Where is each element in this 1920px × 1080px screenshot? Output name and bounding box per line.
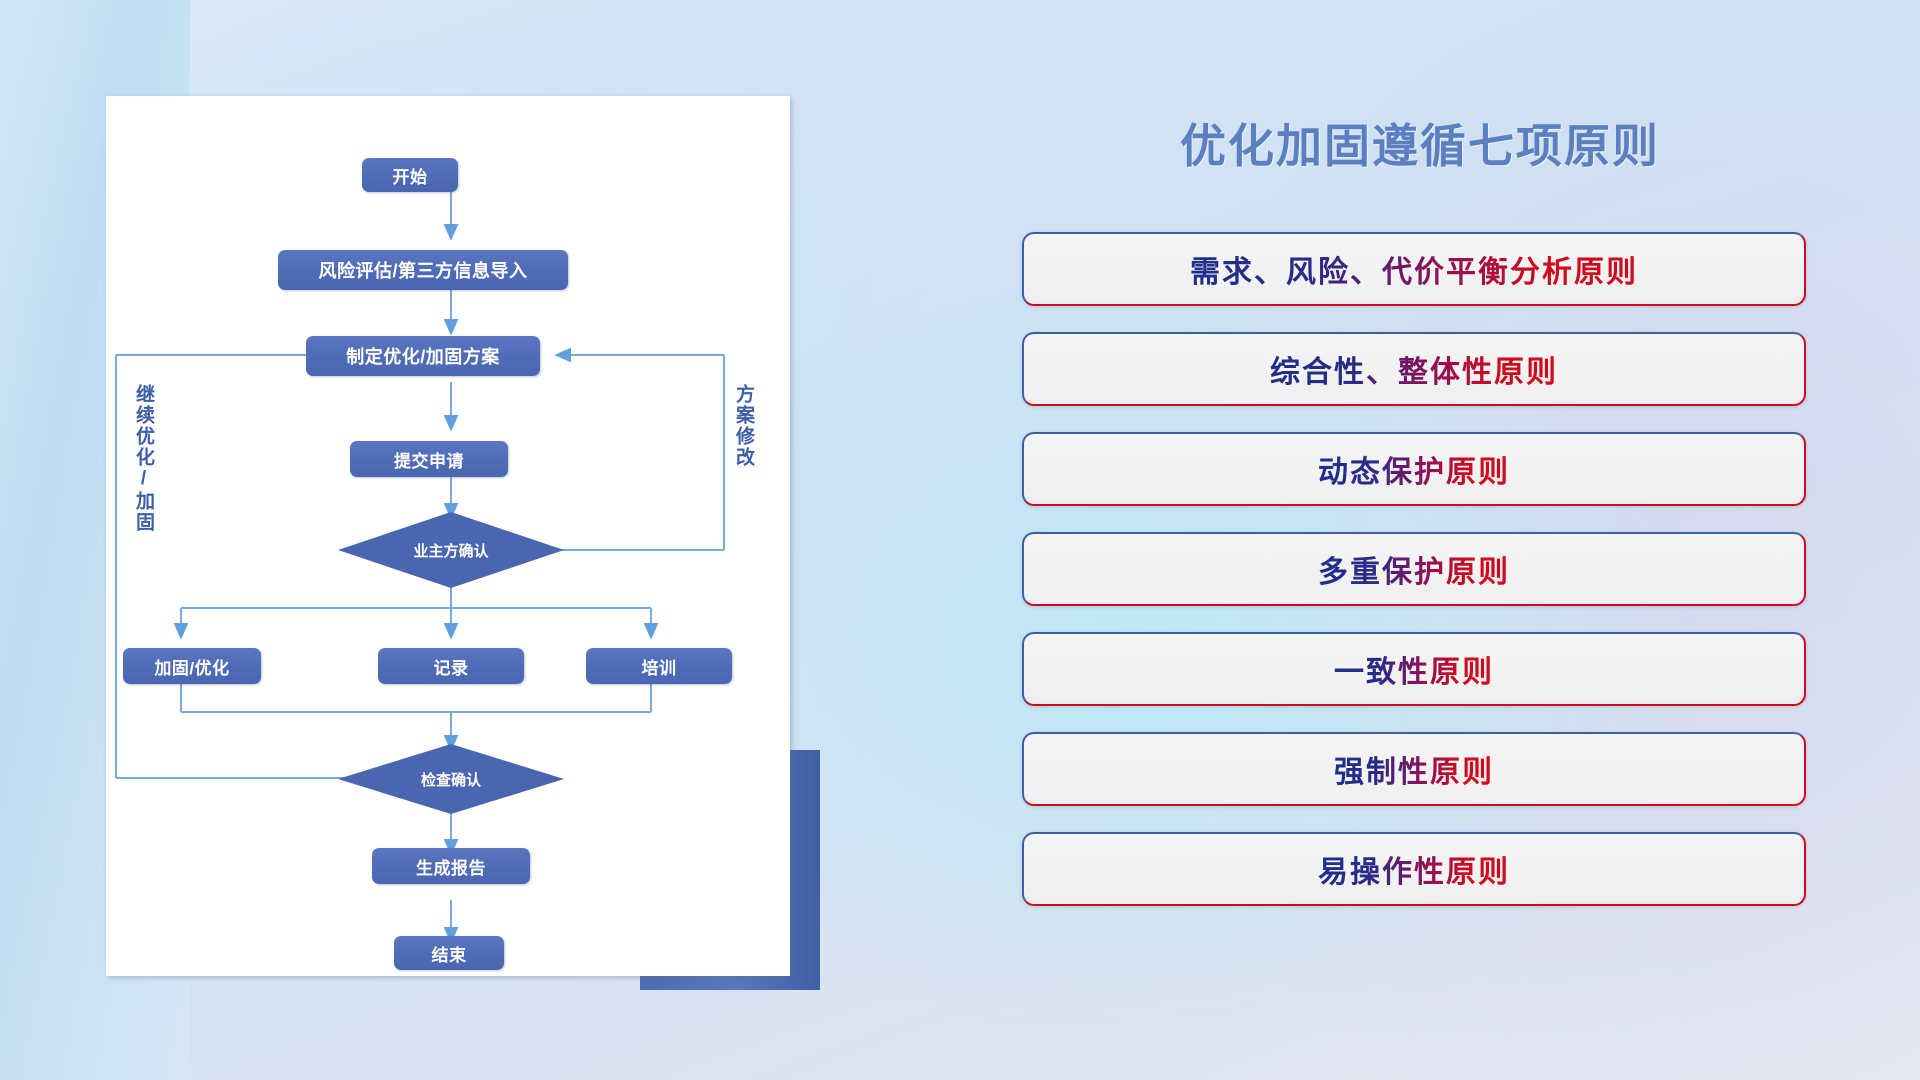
- flow-node-start[interactable]: 开始: [362, 158, 458, 192]
- principle-item-4[interactable]: 多重保护原则: [1022, 532, 1806, 606]
- flow-node-plan[interactable]: 制定优化/加固方案: [306, 336, 540, 376]
- flowchart-card: 开始 风险评估/第三方信息导入 制定优化/加固方案 提交申请 业主方确认 加固/…: [106, 96, 790, 976]
- panel-title: 优化加固遵循七项原则: [1020, 110, 1820, 176]
- flow-node-label: 风险评估/第三方信息导入: [319, 257, 528, 283]
- flow-node-training[interactable]: 培训: [586, 648, 732, 684]
- flow-node-label: 制定优化/加固方案: [346, 343, 500, 369]
- principle-item-5[interactable]: 一致性原则: [1022, 632, 1806, 706]
- principle-label: 多重保护原则: [1318, 547, 1510, 591]
- flow-node-generate-report[interactable]: 生成报告: [372, 848, 530, 884]
- flow-node-end[interactable]: 结束: [394, 936, 504, 970]
- flowchart-canvas: 开始 风险评估/第三方信息导入 制定优化/加固方案 提交申请 业主方确认 加固/…: [106, 96, 790, 976]
- principle-label: 需求、风险、代价平衡分析原则: [1190, 247, 1638, 291]
- principle-item-3[interactable]: 动态保护原则: [1022, 432, 1806, 506]
- flow-node-label: 培训: [642, 654, 677, 679]
- principle-label: 易操作性原则: [1318, 847, 1510, 891]
- flow-node-label: 生成报告: [416, 854, 486, 879]
- principle-label: 综合性、整体性原则: [1270, 347, 1558, 391]
- flow-node-label: 记录: [434, 654, 469, 679]
- principle-item-6[interactable]: 强制性原则: [1022, 732, 1806, 806]
- flow-node-risk-assessment[interactable]: 风险评估/第三方信息导入: [278, 250, 568, 290]
- flow-node-label: 结束: [432, 941, 467, 966]
- principle-label: 强制性原则: [1334, 747, 1494, 791]
- flow-node-label: 业主方确认: [413, 540, 488, 561]
- principle-item-7[interactable]: 易操作性原则: [1022, 832, 1806, 906]
- flow-node-label: 加固/优化: [154, 654, 229, 679]
- flow-node-reinforce-optimize[interactable]: 加固/优化: [123, 648, 261, 684]
- flow-node-label: 提交申请: [394, 447, 464, 472]
- flow-edge-label-revise-plan: 方案修改: [730, 384, 757, 468]
- flow-node-submit-application[interactable]: 提交申请: [350, 441, 508, 477]
- principle-label: 一致性原则: [1334, 647, 1494, 691]
- principle-item-2[interactable]: 综合性、整体性原则: [1022, 332, 1806, 406]
- principle-label: 动态保护原则: [1318, 447, 1510, 491]
- flow-node-inspection-confirm[interactable]: 检查确认: [338, 744, 564, 814]
- principle-item-1[interactable]: 需求、风险、代价平衡分析原则: [1022, 232, 1806, 306]
- flow-node-label: 开始: [393, 163, 428, 188]
- flow-node-label: 检查确认: [421, 769, 481, 790]
- flow-node-record[interactable]: 记录: [378, 648, 524, 684]
- flow-edge-label-continue-optimize: 继续优化/加固: [130, 384, 157, 533]
- principle-list: 需求、风险、代价平衡分析原则 综合性、整体性原则 动态保护原则 多重保护原则 一…: [1022, 232, 1806, 932]
- slide-canvas: 开始 风险评估/第三方信息导入 制定优化/加固方案 提交申请 业主方确认 加固/…: [0, 0, 1920, 1080]
- flow-node-owner-confirm[interactable]: 业主方确认: [338, 512, 564, 588]
